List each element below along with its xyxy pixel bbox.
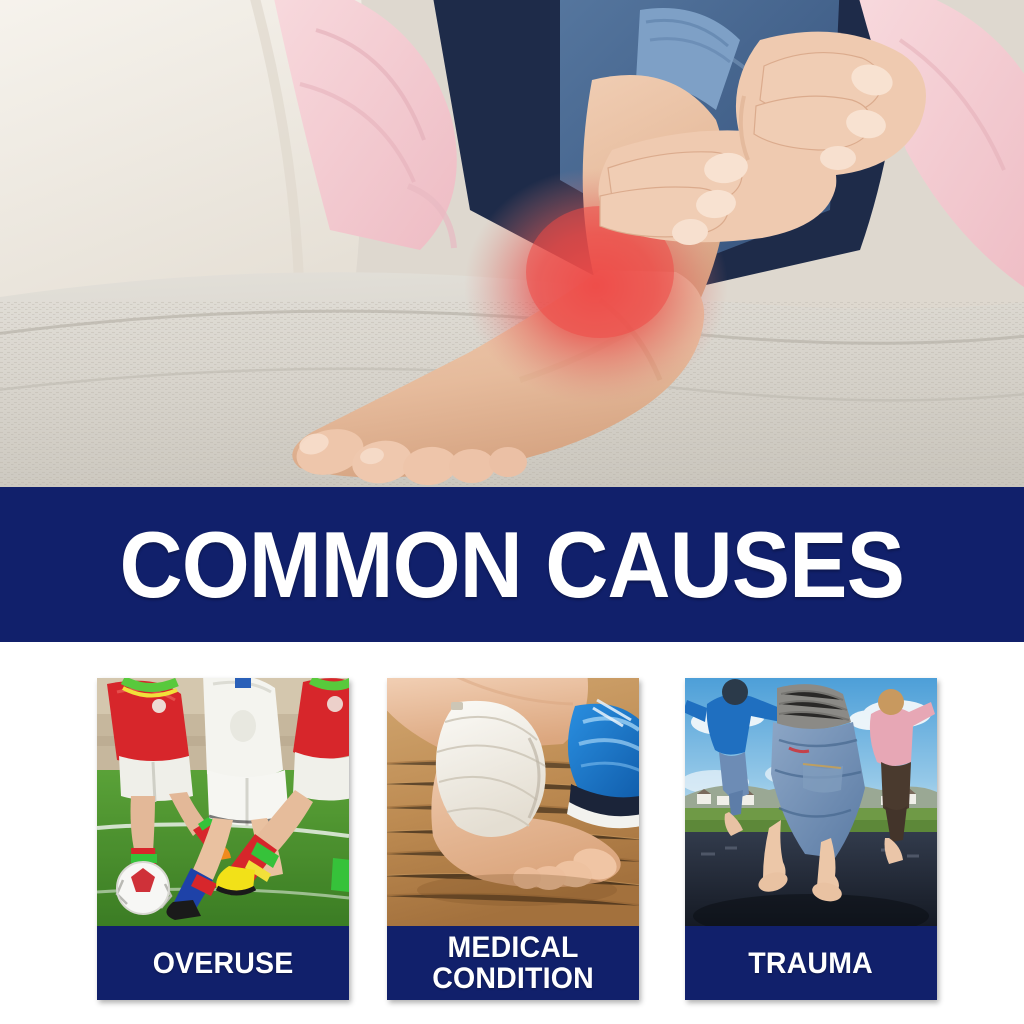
page-title: COMMON CAUSES xyxy=(120,518,904,612)
cause-card-overuse[interactable]: OVERUSE xyxy=(97,678,349,1000)
ankle-pain-illustration xyxy=(0,0,1024,487)
card-label-text: TRAUMA xyxy=(749,948,874,979)
card-label-band: OVERUSE xyxy=(97,926,349,1000)
causes-card-row: OVERUSE xyxy=(0,642,1024,1024)
card-label-text: MEDICAL CONDITION xyxy=(432,932,594,994)
youth-soccer-photo xyxy=(97,678,349,926)
card-label-text: OVERUSE xyxy=(153,948,294,979)
bandaged-ankle-photo xyxy=(387,678,639,926)
children-jumping-trampoline-photo xyxy=(685,678,937,926)
cause-card-medical-condition[interactable]: MEDICAL CONDITION xyxy=(387,678,639,1000)
card-label-band: MEDICAL CONDITION xyxy=(387,926,639,1000)
trampoline-illustration xyxy=(685,678,937,926)
cause-card-trauma[interactable]: TRAUMA xyxy=(685,678,937,1000)
bandaged-ankle-illustration xyxy=(387,678,639,926)
title-banner: COMMON CAUSES xyxy=(0,487,1024,642)
soccer-illustration xyxy=(97,678,349,926)
infographic-page: COMMON CAUSES xyxy=(0,0,1024,1024)
card-label-band: TRAUMA xyxy=(685,926,937,1000)
hero-image xyxy=(0,0,1024,487)
